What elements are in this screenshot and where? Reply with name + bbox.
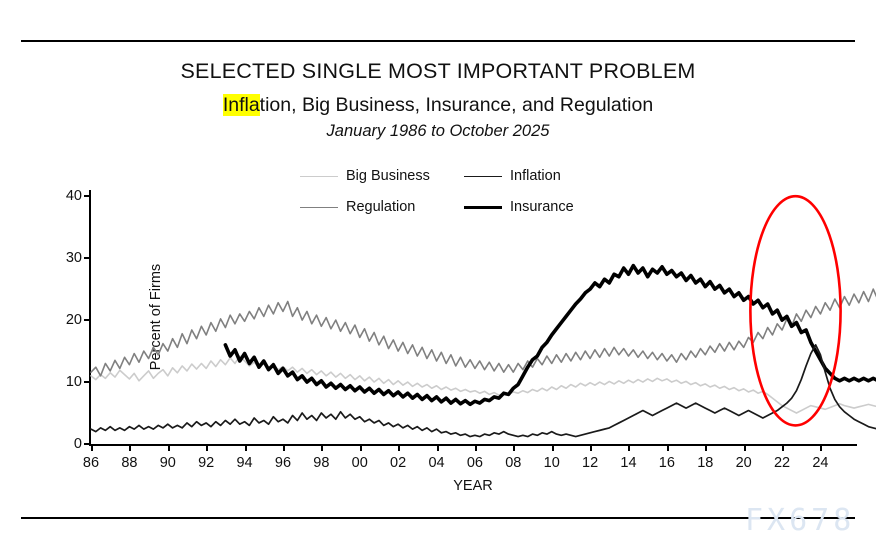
x-tick-label: 22 [774,455,790,471]
x-tick-label: 92 [198,455,214,471]
x-tick-label: 12 [582,455,598,471]
x-tick-label: 96 [275,455,291,471]
x-tick-label: 08 [505,455,521,471]
chart-subtitle: Inflation, Big Business, Insurance, and … [0,93,876,118]
x-tick-mark [398,444,400,451]
bottom-divider-rule [21,517,855,519]
x-axis-title: YEAR [91,478,855,494]
page-title: SELECTED SINGLE MOST IMPORTANT PROBLEM [0,58,876,85]
x-tick-mark [820,444,822,451]
chart-date-range: January 1986 to October 2025 [0,121,876,142]
y-tick-label: 0 [74,436,82,452]
x-tick-mark [91,444,93,451]
x-tick-mark [283,444,285,451]
y-tick-label: 40 [66,188,82,204]
x-tick-mark [245,444,247,451]
x-axis-line [89,444,857,446]
x-tick-label: 94 [236,455,252,471]
x-tick-mark [206,444,208,451]
x-tick-mark [782,444,784,451]
chart-canvas: SELECTED SINGLE MOST IMPORTANT PROBLEM I… [0,0,876,556]
legend-label-inflation: Inflation [510,168,610,184]
x-tick-mark [513,444,515,451]
x-tick-mark [552,444,554,451]
x-tick-mark [705,444,707,451]
x-tick-mark [360,444,362,451]
y-tick-mark [84,381,91,383]
x-tick-label: 88 [121,455,137,471]
x-tick-label: 06 [467,455,483,471]
plot-area: Percent of Firms YEAR 010203040868890929… [91,190,855,444]
x-tick-label: 98 [313,455,329,471]
y-tick-mark [84,257,91,259]
x-tick-label: 24 [812,455,828,471]
subtitle-highlight: Infla [223,94,260,116]
watermark: FX678 [745,503,855,538]
legend-swatch-inflation [464,176,502,177]
x-tick-mark [667,444,669,451]
legend-swatch-big-business [300,176,338,177]
inflation-spike-highlight [91,190,855,444]
x-tick-mark [437,444,439,451]
inflation-spike-highlight [750,196,840,425]
x-tick-mark [321,444,323,451]
x-tick-label: 04 [428,455,444,471]
legend-label-big-business: Big Business [346,168,464,184]
x-tick-mark [628,444,630,451]
y-tick-label: 10 [66,374,82,390]
x-tick-label: 86 [83,455,99,471]
y-tick-label: 30 [66,250,82,266]
x-tick-label: 16 [659,455,675,471]
x-tick-mark [744,444,746,451]
x-tick-label: 18 [697,455,713,471]
y-tick-mark [84,195,91,197]
x-tick-mark [168,444,170,451]
title-block: SELECTED SINGLE MOST IMPORTANT PROBLEM I… [0,58,876,143]
subtitle-rest: tion, Big Business, Insurance, and Regul… [260,94,654,116]
x-tick-mark [590,444,592,451]
x-tick-label: 20 [736,455,752,471]
y-tick-mark [84,443,91,445]
x-tick-label: 14 [620,455,636,471]
x-tick-label: 00 [352,455,368,471]
y-tick-mark [84,319,91,321]
x-tick-label: 10 [544,455,560,471]
x-tick-mark [475,444,477,451]
y-tick-label: 20 [66,312,82,328]
top-divider-rule [21,40,855,42]
x-tick-label: 90 [160,455,176,471]
x-tick-mark [129,444,131,451]
x-tick-label: 02 [390,455,406,471]
